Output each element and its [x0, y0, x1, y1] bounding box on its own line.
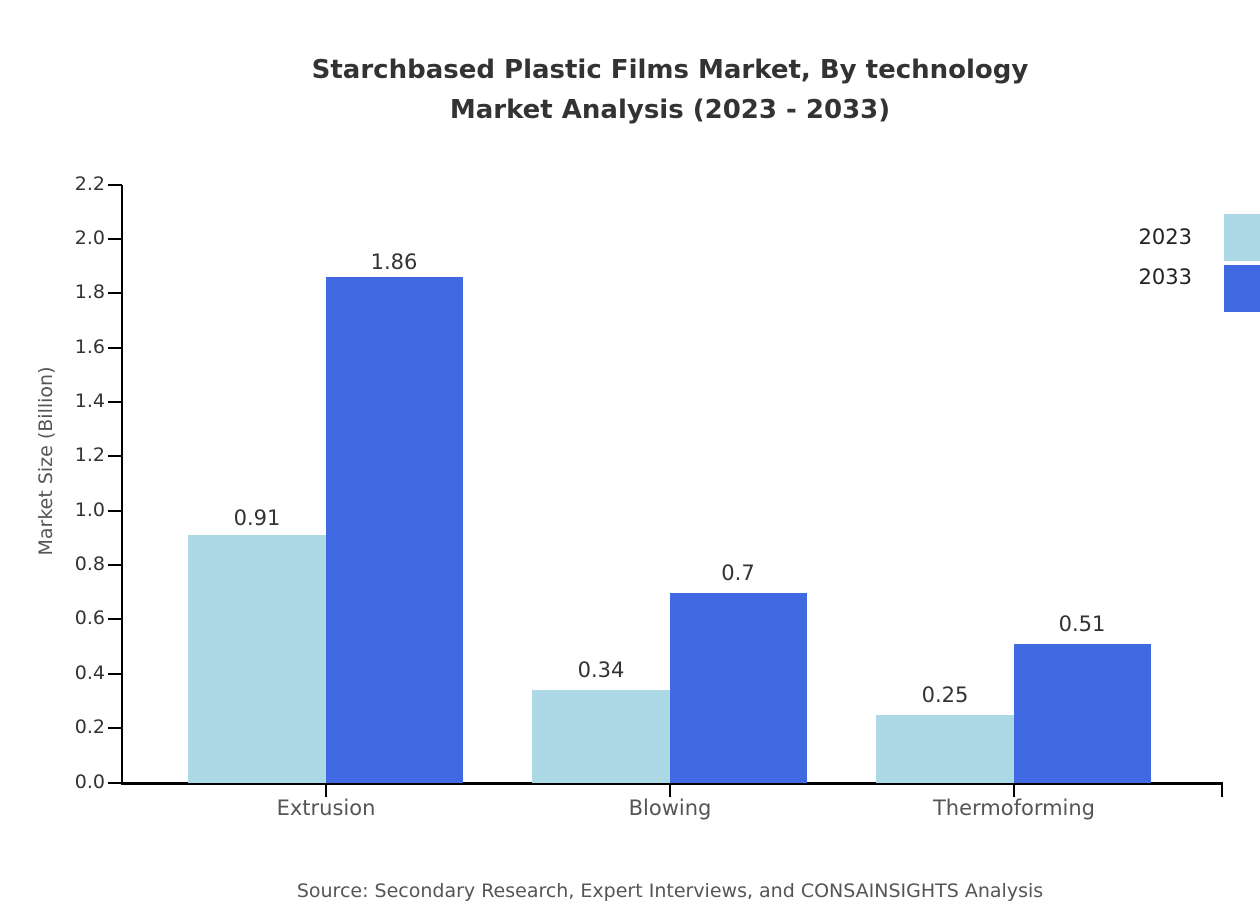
x-tick-label-thermoforming: Thermoforming — [864, 795, 1164, 821]
y-axis-line — [121, 185, 123, 784]
y-tick-label: 0.0 — [0, 773, 105, 792]
y-tick-label: 0.4 — [0, 664, 105, 683]
y-tick-mark — [108, 782, 122, 784]
y-tick-mark — [108, 510, 122, 512]
y-tick-mark — [108, 455, 122, 457]
y-tick-label: 0.6 — [0, 609, 105, 628]
y-tick-label: 1.2 — [0, 446, 105, 465]
bar-extrusion-2023 — [188, 535, 326, 783]
y-tick-mark — [108, 564, 122, 566]
bar-blowing-2023 — [532, 690, 670, 783]
y-tick-mark — [108, 727, 122, 729]
y-tick-label: 0.8 — [0, 555, 105, 574]
y-tick-mark — [108, 618, 122, 620]
y-tick-mark — [108, 238, 122, 240]
y-tick-mark — [108, 401, 122, 403]
source-note: Source: Secondary Research, Expert Inter… — [0, 880, 1260, 902]
legend-label-2023[interactable]: 2023 — [1032, 227, 1192, 248]
y-tick-label: 1.0 — [0, 501, 105, 520]
bar-value-label-extrusion-2033: 1.86 — [294, 252, 494, 273]
bar-extrusion-2033 — [326, 277, 463, 783]
x-axis-end-tick — [1221, 784, 1223, 797]
bar-chart-figure: Starchbased Plastic Films Market, By tec… — [0, 0, 1260, 920]
y-tick-mark — [108, 184, 122, 186]
legend-swatch-2023[interactable] — [1224, 214, 1260, 261]
bar-thermoforming-2023 — [876, 715, 1014, 783]
bar-value-label-thermoforming-2033: 0.51 — [982, 614, 1182, 635]
legend-swatch-2033[interactable] — [1224, 265, 1260, 312]
y-tick-label: 1.8 — [0, 283, 105, 302]
y-tick-label: 1.6 — [0, 338, 105, 357]
chart-title: Starchbased Plastic Films Market, By tec… — [0, 50, 1260, 130]
y-tick-label: 2.0 — [0, 229, 105, 248]
y-tick-mark — [108, 347, 122, 349]
y-tick-mark — [108, 292, 122, 294]
y-tick-label: 2.2 — [0, 175, 105, 194]
x-tick-label-extrusion: Extrusion — [176, 795, 476, 821]
legend-label-2033[interactable]: 2033 — [1032, 267, 1192, 288]
bar-thermoforming-2033 — [1014, 644, 1151, 783]
y-tick-label: 0.2 — [0, 718, 105, 737]
chart-title-line-2: Market Analysis (2023 - 2033) — [0, 90, 1260, 130]
chart-title-line-1: Starchbased Plastic Films Market, By tec… — [0, 50, 1260, 90]
bar-blowing-2033 — [670, 593, 807, 783]
y-tick-label: 1.4 — [0, 392, 105, 411]
bar-value-label-blowing-2033: 0.7 — [638, 563, 838, 584]
x-tick-label-blowing: Blowing — [520, 795, 820, 821]
y-tick-mark — [108, 673, 122, 675]
